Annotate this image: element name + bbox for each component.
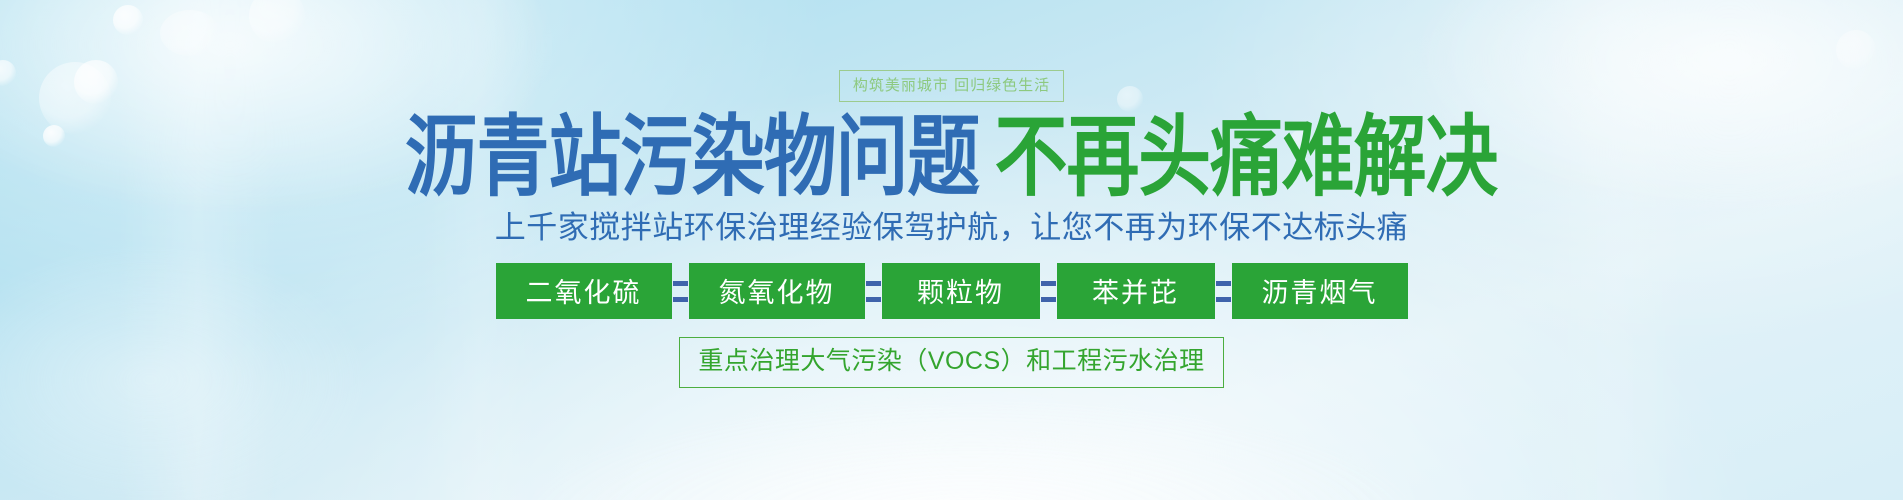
- chip-asphalt-fumes[interactable]: 沥青烟气: [1232, 263, 1408, 319]
- chip-separator-4: [1215, 263, 1232, 319]
- chip-nitrogen-oxides[interactable]: 氮氧化物: [689, 263, 865, 319]
- chip-separator-1: [672, 263, 689, 319]
- chip-separator-2: [865, 263, 882, 319]
- hero-banner: 构筑美丽城市 回归绿色生活 沥青站污染物问题不再头痛难解决 上千家搅拌站环保治理…: [0, 0, 1903, 500]
- chip-sulfur-dioxide[interactable]: 二氧化硫: [496, 263, 672, 319]
- banner-content: 构筑美丽城市 回归绿色生活 沥青站污染物问题不再头痛难解决 上千家搅拌站环保治理…: [0, 0, 1903, 500]
- pollutant-chip-list: 二氧化硫 氮氧化物 颗粒物 苯并芘 沥青烟气: [496, 263, 1408, 319]
- chip-separator-3: [1040, 263, 1057, 319]
- headline-green-part: 不再头痛难解决: [995, 105, 1497, 209]
- subtitle: 上千家搅拌站环保治理经验保驾护航，让您不再为环保不达标头痛: [495, 211, 1409, 245]
- headline-blue-part: 沥青站污染物问题: [405, 105, 979, 209]
- chip-benzopyrene[interactable]: 苯并芘: [1057, 263, 1215, 319]
- focus-note: 重点治理大气污染（VOCS）和工程污水治理: [679, 337, 1223, 388]
- tagline-pill: 构筑美丽城市 回归绿色生活: [839, 70, 1064, 102]
- page-title: 沥青站污染物问题不再头痛难解决: [405, 112, 1497, 202]
- chip-particulates[interactable]: 颗粒物: [882, 263, 1040, 319]
